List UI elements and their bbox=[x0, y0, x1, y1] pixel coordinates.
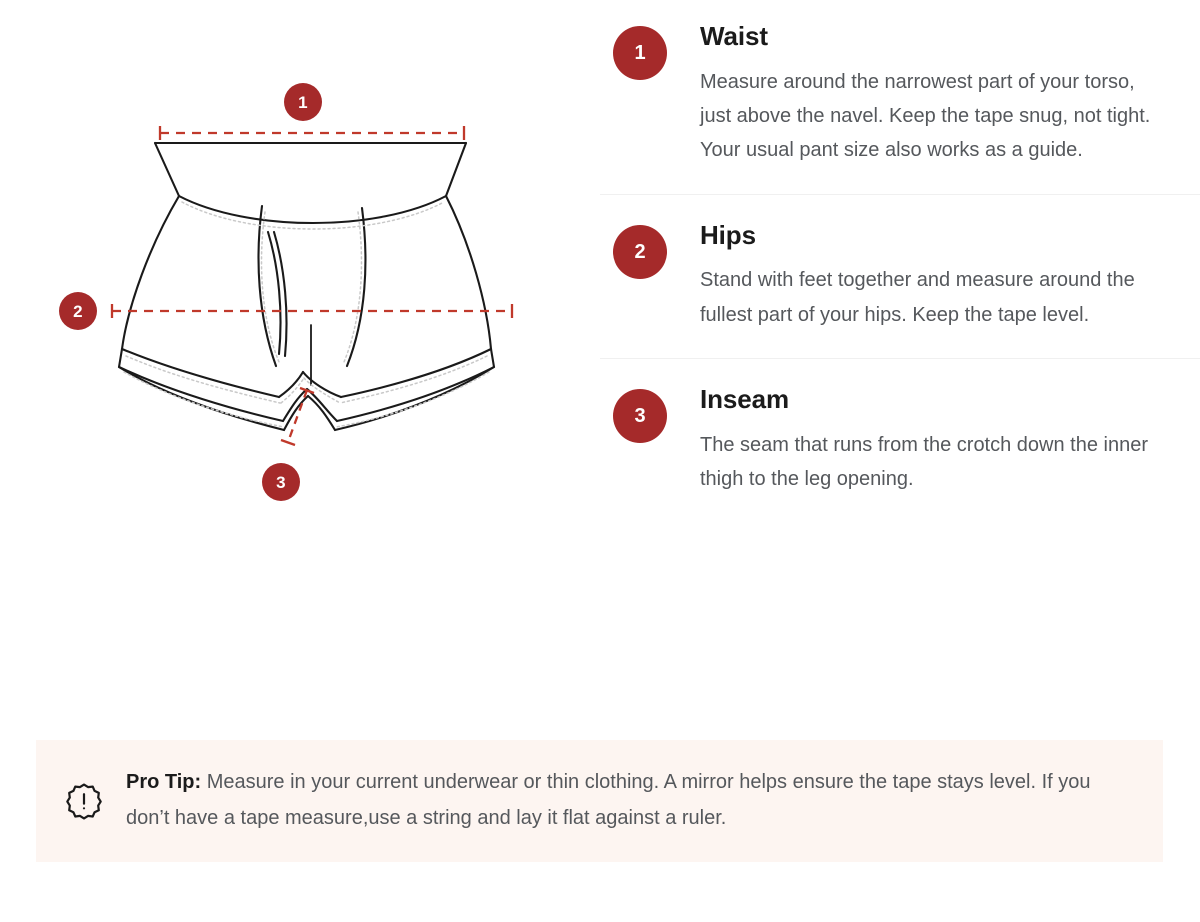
step-description-inseam: The seam that runs from the crotch down … bbox=[700, 428, 1155, 497]
step-description-hips: Stand with feet together and measure aro… bbox=[700, 263, 1155, 332]
waist-measure-line bbox=[160, 126, 464, 140]
illustration-badge-inseam: 3 bbox=[262, 463, 300, 501]
illustration-badge-waist: 1 bbox=[284, 83, 322, 121]
guide-columns: 1 2 3 1 Waist Measure around the narrowe… bbox=[0, 0, 1200, 730]
step-item-waist: 1 Waist Measure around the narrowest par… bbox=[600, 0, 1200, 194]
step-item-inseam: 3 Inseam The seam that runs from the cro… bbox=[600, 358, 1200, 522]
step-badge-waist: 1 bbox=[613, 26, 667, 80]
size-guide-page: 1 2 3 1 Waist Measure around the narrowe… bbox=[0, 0, 1200, 922]
pro-tip-body: Measure in your current underwear or thi… bbox=[126, 771, 1091, 829]
illustration-badge-hips-label: 2 bbox=[73, 303, 83, 320]
step-title-hips: Hips bbox=[700, 221, 1160, 250]
step-body-hips: Hips Stand with feet together and measur… bbox=[700, 221, 1160, 332]
step-body-waist: Waist Measure around the narrowest part … bbox=[700, 22, 1160, 168]
step-item-hips: 2 Hips Stand with feet together and meas… bbox=[600, 194, 1200, 358]
measurement-steps-panel: 1 Waist Measure around the narrowest par… bbox=[600, 0, 1200, 730]
step-body-inseam: Inseam The seam that runs from the crotc… bbox=[700, 385, 1160, 496]
step-title-inseam: Inseam bbox=[700, 385, 1160, 414]
garment-outline bbox=[119, 143, 494, 430]
hips-measure-line bbox=[112, 304, 512, 318]
illustration-badge-inseam-label: 3 bbox=[276, 474, 286, 491]
step-badge-hips: 2 bbox=[613, 225, 667, 279]
illustration-badge-hips: 2 bbox=[59, 292, 97, 330]
pro-tip-text: Pro Tip: Measure in your current underwe… bbox=[126, 765, 1129, 836]
illustration-panel: 1 2 3 bbox=[0, 0, 600, 730]
pro-tip-banner: Pro Tip: Measure in your current underwe… bbox=[36, 740, 1163, 862]
illustration-badge-waist-label: 1 bbox=[298, 94, 308, 111]
step-title-waist: Waist bbox=[700, 22, 1160, 51]
exclamation-seal-icon bbox=[62, 779, 106, 823]
step-description-waist: Measure around the narrowest part of you… bbox=[700, 65, 1155, 168]
step-badge-hips-label: 2 bbox=[634, 242, 645, 262]
pro-tip-label: Pro Tip: bbox=[126, 771, 201, 793]
step-badge-waist-label: 1 bbox=[634, 43, 645, 63]
step-badge-inseam-label: 3 bbox=[634, 406, 645, 426]
step-badge-inseam: 3 bbox=[613, 389, 667, 443]
